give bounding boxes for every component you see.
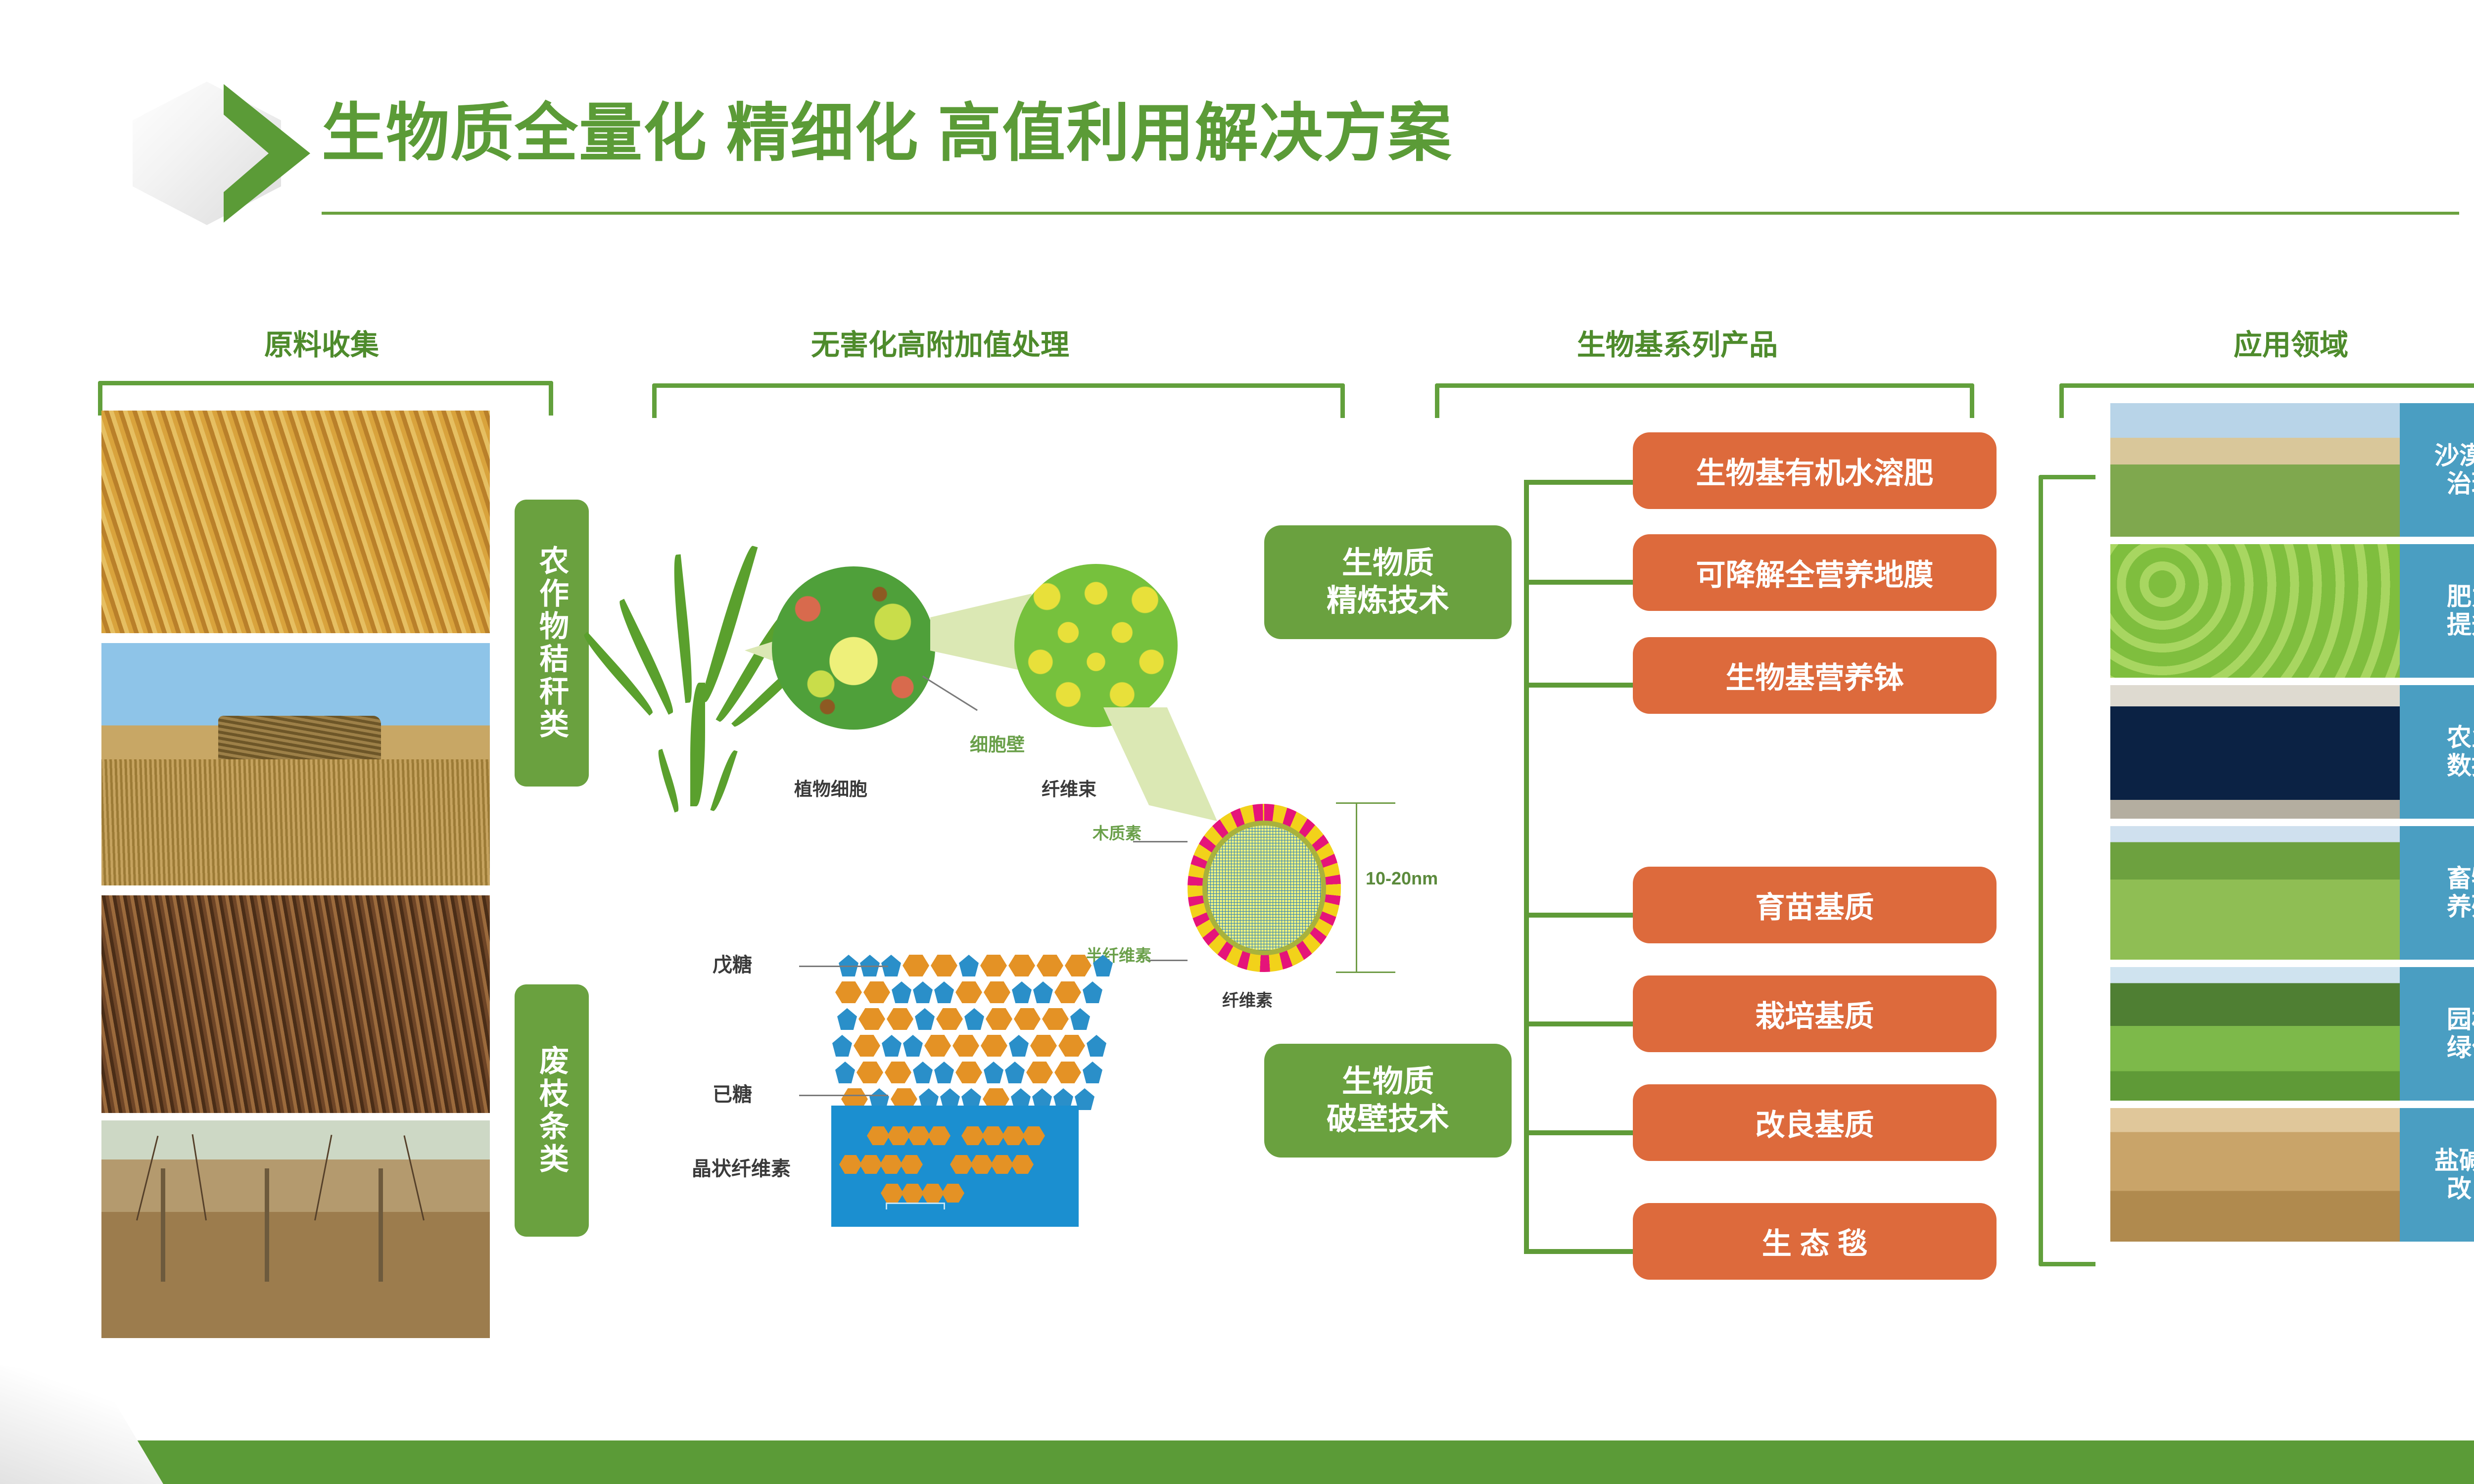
section-label-feedstock: 原料收集 (148, 322, 495, 363)
fiber-cross-section-diagram (1188, 804, 1341, 972)
app-tag-landscaping[interactable]: 园林 绿化 (2400, 967, 2474, 1101)
product-pill-ecological-blanket[interactable]: 生 态 毯 (1633, 1203, 1997, 1280)
app-tag-landscaping-line1: 园林 (2447, 1006, 2474, 1034)
vine-twig (403, 1136, 425, 1221)
app-tag-desertification[interactable]: 沙漠化 治理 (2400, 403, 2474, 537)
title-divider (322, 212, 2459, 215)
footer-corner-wedge (0, 1365, 163, 1484)
app-tag-desertification-line2: 治理 (2434, 470, 2474, 498)
footer-bar (0, 1440, 2474, 1484)
photo-corn-straw-field (101, 411, 490, 633)
vine-post (379, 1168, 383, 1282)
app-tag-soil-fertility-line2: 提升 (2447, 611, 2474, 639)
app-photo-livestock (2110, 826, 2400, 960)
label-crystalline-cellulose: 晶状纤维素 (692, 1153, 791, 1181)
app-photo-landscaping (2110, 967, 2400, 1101)
section-label-processing: 无害化高附加值处理 (544, 322, 1336, 363)
product-pill-cultivation-substrate[interactable]: 栽培基质 (1633, 975, 1997, 1052)
tech-pill-refining[interactable]: 生物质 精炼技术 (1264, 525, 1512, 639)
product-pill-improvement-substrate[interactable]: 改良基质 (1633, 1084, 1997, 1161)
connector-branch-1 (1524, 480, 1643, 485)
app-tag-livestock-line2: 养殖 (2447, 893, 2474, 921)
leader-line-hexose (799, 1095, 888, 1096)
product-pill-nutrition-pot[interactable]: 生物基营养钵 (1633, 637, 1997, 714)
infographic-canvas: 生物质全量化 精细化 高值利用解决方案 原料收集 无害化高附加值处理 生物基系列… (0, 0, 2474, 1484)
app-photo-agri-data (2110, 685, 2400, 819)
app-tag-saline-alkali[interactable]: 盐碱地 改良 (2400, 1108, 2474, 1242)
app-tag-landscaping-line2: 绿化 (2447, 1034, 2474, 1062)
leader-line-cellwall (922, 676, 978, 711)
app-tag-livestock-line1: 畜牧 (2447, 865, 2474, 893)
app-tag-saline-alkali-line2: 改良 (2434, 1175, 2474, 1203)
connector-branch-2 (1524, 580, 1643, 585)
app-photo-saline-alkali (2110, 1108, 2400, 1242)
crystalline-cellulose-panel (831, 1106, 1079, 1227)
product-pill-biodegradable-mulch-film[interactable]: 可降解全营养地膜 (1633, 534, 1997, 611)
app-tag-livestock[interactable]: 畜牧 养殖 (2400, 826, 2474, 960)
bracket-products (1435, 383, 1974, 418)
connector-branch-4 (1524, 913, 1643, 918)
vine-twig (136, 1136, 158, 1220)
bracket-to-applications (2039, 475, 2095, 1266)
app-photo-soil-fertility (2110, 544, 2400, 678)
photo-straw-bale (101, 643, 490, 885)
dimension-line-vertical (1356, 802, 1357, 973)
dimension-tick-bottom (1336, 972, 1395, 973)
vine-post (265, 1168, 269, 1282)
product-pill-water-soluble-fertilizer[interactable]: 生物基有机水溶肥 (1633, 432, 1997, 509)
label-hexose: 已糖 (713, 1078, 752, 1107)
app-tag-agri-data-line1: 农业 (2447, 724, 2474, 752)
tech-wallbreaking-line1: 生物质 (1327, 1063, 1449, 1101)
connector-branch-6 (1524, 1130, 1643, 1135)
tech-pill-wallbreaking[interactable]: 生物质 破壁技术 (1264, 1044, 1512, 1158)
hexagon-logo-shape (133, 82, 281, 225)
vine-twig (314, 1135, 333, 1220)
connector-branch-7 (1524, 1249, 1643, 1254)
feedstock-tag-crop-straw[interactable]: 农作物秸秆类 (515, 500, 589, 787)
vine-post (161, 1168, 165, 1282)
page-title: 生物质全量化 精细化 高值利用解决方案 (322, 89, 1905, 178)
photo-orchard-pruning (101, 1120, 490, 1338)
connector-spine-wallbreaking (1524, 913, 1529, 1254)
app-tag-soil-fertility[interactable]: 肥力 提升 (2400, 544, 2474, 678)
tech-refining-line1: 生物质 (1327, 545, 1449, 582)
plant-cell-diagram (772, 566, 935, 730)
tech-refining-line2: 精炼技术 (1327, 582, 1449, 620)
dimension-tick-top (1336, 802, 1395, 804)
label-pentose: 戊糖 (713, 949, 752, 977)
app-tag-agri-data-line2: 数据 (2447, 752, 2474, 780)
product-pill-seedling-substrate[interactable]: 育苗基质 (1633, 867, 1997, 943)
leader-line-pentose (799, 966, 888, 967)
app-photo-desertification (2110, 403, 2400, 537)
label-fiber-bundle: 纤维束 (1042, 774, 1096, 801)
bracket-processing (652, 383, 1345, 418)
section-label-products: 生物基系列产品 (1405, 322, 1950, 363)
label-cell-wall: 细胞壁 (970, 730, 1025, 756)
section-label-applications: 应用领域 (2093, 322, 2474, 363)
leader-line-hemicellulose (1147, 960, 1188, 961)
sugar-chain-diagram (693, 955, 1138, 1103)
app-tag-soil-fertility-line1: 肥力 (2447, 583, 2474, 611)
label-cellulose: 纤维素 (1222, 987, 1273, 1011)
label-plant-cell: 植物细胞 (794, 774, 867, 801)
label-lignin: 木质素 (1093, 820, 1142, 844)
app-tag-saline-alkali-line1: 盐碱地 (2434, 1147, 2474, 1175)
photo-waste-branches (101, 895, 490, 1113)
tech-wallbreaking-line2: 破壁技术 (1327, 1101, 1449, 1138)
stubble-shape (101, 759, 490, 885)
fiber-bundle-diagram (1014, 564, 1178, 727)
label-fiber-dimension: 10-20nm (1366, 868, 1438, 889)
connector-branch-5 (1524, 1021, 1643, 1026)
app-tag-agri-data[interactable]: 农业 数据 (2400, 685, 2474, 819)
app-tag-desertification-line1: 沙漠化 (2434, 442, 2474, 470)
magnify-beam-3 (1103, 707, 1217, 821)
feedstock-tag-waste-branch[interactable]: 废枝条类 (515, 984, 589, 1237)
connector-branch-3 (1524, 683, 1643, 688)
vine-twig (191, 1134, 206, 1220)
